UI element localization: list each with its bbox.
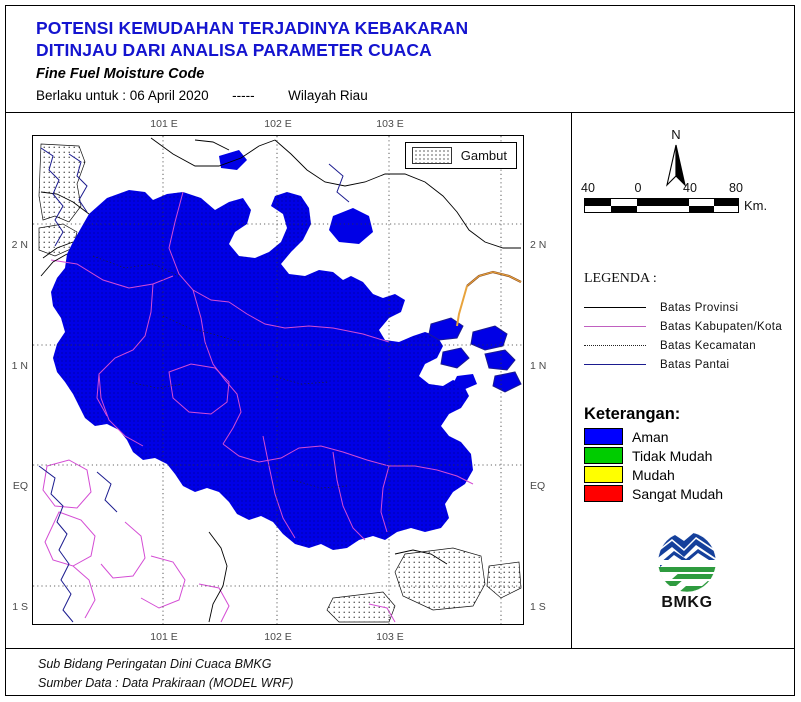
keterangan-label: Tidak Mudah — [632, 448, 712, 464]
bmkg-logo-text: BMKG — [632, 594, 742, 612]
scale-tick-0: 40 — [581, 181, 595, 195]
axis-label-x-bottom-0: 101 E — [150, 631, 177, 643]
axis-label-y-left-3: 1 S — [6, 601, 28, 613]
legenda-title: LEGENDA : — [584, 271, 789, 287]
legenda-item: Batas Kabupaten/Kota — [584, 317, 789, 336]
north-arrow-group: N — [650, 127, 702, 187]
axis-label-y-left-1: 1 N — [6, 360, 28, 372]
axis-label-y-right-3: 1 S — [530, 601, 546, 613]
keterangan-item: Tidak Mudah — [584, 446, 789, 465]
legenda-label: Batas Provinsi — [660, 302, 738, 314]
gambut-legend-box: Gambut — [405, 142, 517, 169]
north-label: N — [650, 127, 702, 142]
keterangan-item: Aman — [584, 427, 789, 446]
axis-label-y-left-2: EQ — [6, 480, 28, 492]
legenda-label: Batas Pantai — [660, 359, 729, 371]
keterangan-item: Sangat Mudah — [584, 484, 789, 503]
axis-label-x-top-0: 101 E — [150, 118, 177, 130]
keterangan-label: Aman — [632, 429, 669, 445]
footer-divider — [6, 648, 795, 649]
legenda-item: Batas Pantai — [584, 355, 789, 374]
page-title-line2: DITINJAU DARI ANALISA PARAMETER CUACA — [36, 40, 432, 61]
page-subtitle: Fine Fuel Moisture Code — [36, 66, 204, 82]
class-swatch-mudah — [584, 466, 623, 483]
legend-panel: N 40 0 40 80 Km. LEGENDA : — [572, 113, 795, 648]
axis-label-y-left-0: 2 N — [6, 239, 28, 251]
peat-hatch-swatch — [412, 147, 452, 164]
axis-label-y-right-1: 1 N — [530, 360, 546, 372]
keterangan-section: Keterangan: Aman Tidak Mudah Mudah Sanga… — [584, 405, 789, 503]
validity-row: Berlaku untuk : 06 April 2020 ----- Wila… — [36, 88, 368, 103]
map-page: POTENSI KEMUDAHAN TERJADINYA KEBAKARAN D… — [0, 0, 801, 702]
scale-tick-2: 40 — [683, 181, 697, 195]
bmkg-logo-group: BMKG — [632, 531, 742, 612]
validity-separator: ----- — [232, 88, 254, 103]
axis-label-y-right-0: 2 N — [530, 239, 546, 251]
axis-label-x-bottom-1: 102 E — [264, 631, 291, 643]
scale-bar-group: 40 0 40 80 Km. — [584, 181, 754, 213]
scale-bar — [584, 198, 739, 213]
map-canvas — [33, 136, 523, 624]
scale-ticks: 40 0 40 80 — [584, 181, 754, 196]
scale-tick-1: 0 — [635, 181, 642, 195]
legenda-section: LEGENDA : Batas Provinsi Batas Kabupaten… — [584, 271, 789, 374]
footer-line2: Sumber Data : Data Prakiraan (MODEL WRF) — [38, 674, 293, 693]
legenda-label: Batas Kecamatan — [660, 340, 756, 352]
class-swatch-tidak-mudah — [584, 447, 623, 464]
validity-date: Berlaku untuk : 06 April 2020 — [36, 88, 209, 103]
class-swatch-sangat-mudah — [584, 485, 623, 502]
keterangan-title: Keterangan: — [584, 405, 789, 424]
header: POTENSI KEMUDAHAN TERJADINYA KEBAKARAN D… — [6, 6, 794, 112]
page-title-line1: POTENSI KEMUDAHAN TERJADINYA KEBAKARAN — [36, 18, 468, 39]
keterangan-label: Sangat Mudah — [632, 486, 723, 502]
footer-line1: Sub Bidang Peringatan Dini Cuaca BMKG — [38, 655, 293, 674]
bmkg-logo-icon — [650, 531, 724, 593]
axis-label-x-top-1: 102 E — [264, 118, 291, 130]
gambut-label: Gambut — [461, 148, 507, 163]
line-sample-kabupaten — [584, 326, 646, 327]
scale-unit-label: Km. — [744, 198, 767, 213]
line-sample-kecamatan — [584, 345, 646, 346]
map-frame[interactable]: Gambut — [32, 135, 524, 625]
region-label: Wilayah Riau — [288, 88, 368, 103]
class-swatch-aman — [584, 428, 623, 445]
legenda-item: Batas Provinsi — [584, 298, 789, 317]
legenda-label: Batas Kabupaten/Kota — [660, 321, 782, 333]
map-area: 101 E 102 E 103 E 101 E 102 E 103 E 2 N … — [6, 113, 571, 648]
legenda-item: Batas Kecamatan — [584, 336, 789, 355]
axis-label-x-bottom-2: 103 E — [376, 631, 403, 643]
scale-tick-3: 80 — [729, 181, 743, 195]
axis-label-y-right-2: EQ — [530, 480, 545, 492]
axis-label-x-top-2: 103 E — [376, 118, 403, 130]
footer: Sub Bidang Peringatan Dini Cuaca BMKG Su… — [38, 655, 293, 693]
keterangan-label: Mudah — [632, 467, 675, 483]
line-sample-provinsi — [584, 307, 646, 308]
line-sample-pantai — [584, 364, 646, 365]
keterangan-item: Mudah — [584, 465, 789, 484]
